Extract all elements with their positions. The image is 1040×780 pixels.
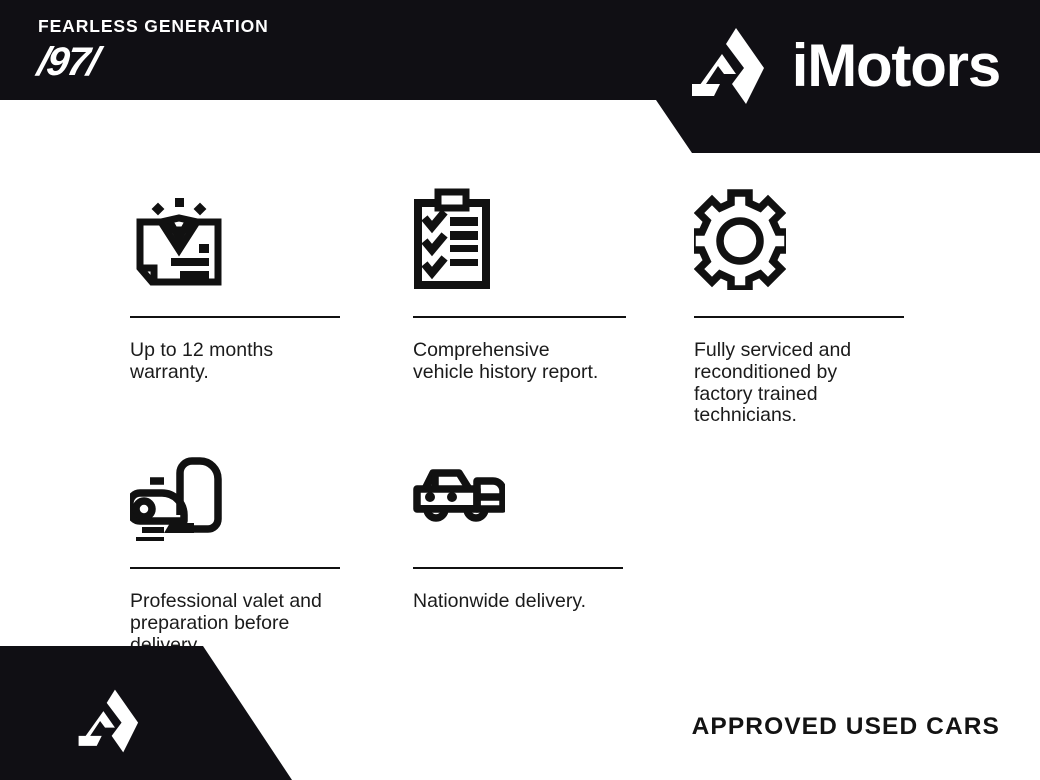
feature-divider [413,567,623,569]
feature-item: Fully serviced and reconditioned by fact… [694,186,920,427]
brand-lockup: iMotors [684,22,1000,110]
gear-cog-icon [694,186,920,302]
feature-grid: Up to 12 months warranty. [130,186,920,657]
promo-graphic: FEARLESS GENERATION /97/ iMotors [0,0,1040,780]
clipboard-checklist-icon [413,186,694,302]
vacuum-cleaner-icon [130,449,413,553]
feature-caption: Comprehensive vehicle history report. [413,340,653,384]
imotors-chevron-logo-icon [72,684,148,758]
feature-grid-spacer [694,427,920,656]
footer-tagline: APPROVED USED CARS [692,713,1000,741]
brand-name: iMotors [792,36,1000,96]
campaign-lockup: FEARLESS GENERATION /97/ [38,18,269,82]
imotors-chevron-logo-icon [684,22,776,110]
feature-caption: Up to 12 months warranty. [130,340,370,384]
warranty-certificate-diamond-icon [130,186,413,302]
feature-item: Nationwide delivery. [413,449,694,656]
feature-divider [130,316,340,318]
car-transporter-truck-icon [413,449,694,553]
feature-item: Professional valet and preparation befor… [130,449,413,656]
feature-item: Comprehensive vehicle history report. [413,186,694,427]
feature-caption: Fully serviced and reconditioned by fact… [694,340,920,427]
feature-item: Up to 12 months warranty. [130,186,413,427]
feature-divider [413,316,626,318]
campaign-year-logo: /97/ [35,42,271,82]
campaign-title: FEARLESS GENERATION [38,18,269,36]
feature-caption: Nationwide delivery. [413,591,653,613]
feature-divider [694,316,904,318]
feature-divider [130,567,340,569]
